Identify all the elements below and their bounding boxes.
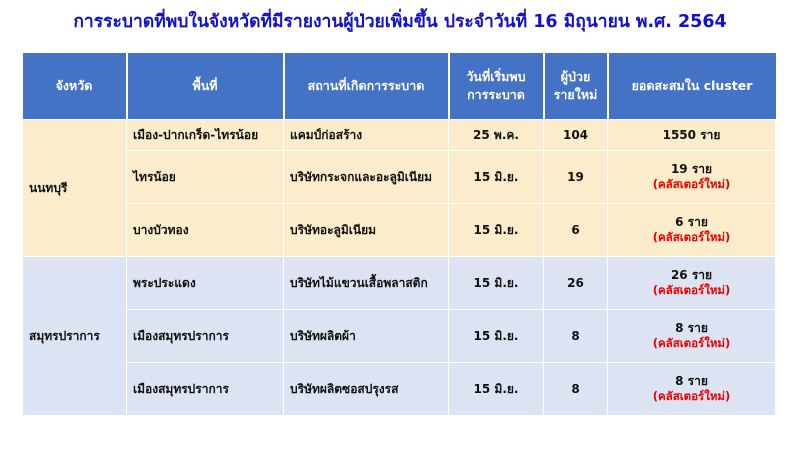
column-header-new-cases-line1: ผู้ป่วย bbox=[561, 69, 591, 84]
cell-cumulative: 8 ราย(คลัสเตอร์ใหม่) bbox=[608, 310, 776, 363]
table-body: นนทบุรีเมือง-ปากเกร็ด-ไทรน้อยแคมป์ก่อสร้… bbox=[23, 120, 776, 416]
column-header-place: สถานที่เกิดการระบาด bbox=[284, 53, 449, 120]
table-header: จังหวัด พื้นที่ สถานที่เกิดการระบาด วันท… bbox=[23, 53, 776, 120]
cell-cumulative: 8 ราย(คลัสเตอร์ใหม่) bbox=[608, 363, 776, 416]
cell-province: นนทบุรี bbox=[23, 120, 127, 257]
table-row: สมุทรปราการพระประแดงบริษัทไม้แขวนเสื้อพล… bbox=[23, 257, 776, 310]
new-cluster-note: (คลัสเตอร์ใหม่) bbox=[614, 230, 769, 246]
outbreak-table-container: จังหวัด พื้นที่ สถานที่เกิดการระบาด วันท… bbox=[22, 53, 775, 416]
table-row: นนทบุรีเมือง-ปากเกร็ด-ไทรน้อยแคมป์ก่อสร้… bbox=[23, 120, 776, 151]
cell-new-cases: 8 bbox=[544, 310, 608, 363]
cell-cumulative: 19 ราย(คลัสเตอร์ใหม่) bbox=[608, 151, 776, 204]
table-row: เมืองสมุทรปราการบริษัทผลิตซอสปรุงรส15 มิ… bbox=[23, 363, 776, 416]
cell-start-date: 15 มิ.ย. bbox=[449, 363, 544, 416]
column-header-new-cases-line2: รายใหม่ bbox=[554, 87, 598, 102]
column-header-area: พื้นที่ bbox=[127, 53, 284, 120]
cell-start-date: 15 มิ.ย. bbox=[449, 151, 544, 204]
slide-page: การระบาดที่พบในจังหวัดที่มีรายงานผู้ป่วย… bbox=[0, 0, 800, 450]
cell-place: แคมป์ก่อสร้าง bbox=[284, 120, 449, 151]
cell-area: เมืองสมุทรปราการ bbox=[127, 310, 284, 363]
cumulative-total: 6 ราย bbox=[614, 214, 769, 230]
cumulative-total: 26 ราย bbox=[614, 267, 769, 283]
page-title: การระบาดที่พบในจังหวัดที่มีรายงานผู้ป่วย… bbox=[0, 12, 800, 33]
new-cluster-note: (คลัสเตอร์ใหม่) bbox=[614, 336, 769, 352]
column-header-cumulative: ยอดสะสมใน cluster bbox=[608, 53, 776, 120]
new-cluster-note: (คลัสเตอร์ใหม่) bbox=[614, 283, 769, 299]
cumulative-total: 8 ราย bbox=[614, 320, 769, 336]
table-header-row: จังหวัด พื้นที่ สถานที่เกิดการระบาด วันท… bbox=[23, 53, 776, 120]
cell-cumulative: 26 ราย(คลัสเตอร์ใหม่) bbox=[608, 257, 776, 310]
table-row: ไทรน้อยบริษัทกระจกและอะลูมิเนียม15 มิ.ย.… bbox=[23, 151, 776, 204]
column-header-province: จังหวัด bbox=[23, 53, 127, 120]
cell-start-date: 15 มิ.ย. bbox=[449, 310, 544, 363]
cell-area: เมือง-ปากเกร็ด-ไทรน้อย bbox=[127, 120, 284, 151]
cell-start-date: 15 มิ.ย. bbox=[449, 257, 544, 310]
cell-area: ไทรน้อย bbox=[127, 151, 284, 204]
cell-new-cases: 104 bbox=[544, 120, 608, 151]
outbreak-table: จังหวัด พื้นที่ สถานที่เกิดการระบาด วันท… bbox=[22, 53, 776, 416]
cell-new-cases: 26 bbox=[544, 257, 608, 310]
table-row: เมืองสมุทรปราการบริษัทผลิตผ้า15 มิ.ย.88 … bbox=[23, 310, 776, 363]
cumulative-total: 8 ราย bbox=[614, 373, 769, 389]
column-header-start-date-line1: วันที่เริ่มพบ bbox=[466, 69, 525, 84]
cumulative-total: 1550 ราย bbox=[614, 127, 769, 143]
cell-new-cases: 8 bbox=[544, 363, 608, 416]
column-header-start-date: วันที่เริ่มพบ การระบาด bbox=[449, 53, 544, 120]
cell-place: บริษัทผลิตซอสปรุงรส bbox=[284, 363, 449, 416]
cell-place: บริษัทกระจกและอะลูมิเนียม bbox=[284, 151, 449, 204]
cell-area: เมืองสมุทรปราการ bbox=[127, 363, 284, 416]
new-cluster-note: (คลัสเตอร์ใหม่) bbox=[614, 389, 769, 405]
cell-cumulative: 6 ราย(คลัสเตอร์ใหม่) bbox=[608, 204, 776, 257]
cell-place: บริษัทผลิตผ้า bbox=[284, 310, 449, 363]
new-cluster-note: (คลัสเตอร์ใหม่) bbox=[614, 177, 769, 193]
cell-place: บริษัทอะลูมิเนียม bbox=[284, 204, 449, 257]
cell-place: บริษัทไม้แขวนเสื้อพลาสติก bbox=[284, 257, 449, 310]
cell-new-cases: 6 bbox=[544, 204, 608, 257]
cell-start-date: 25 พ.ค. bbox=[449, 120, 544, 151]
table-row: บางบัวทองบริษัทอะลูมิเนียม15 มิ.ย.66 ราย… bbox=[23, 204, 776, 257]
cell-cumulative: 1550 ราย bbox=[608, 120, 776, 151]
cell-area: บางบัวทอง bbox=[127, 204, 284, 257]
cell-start-date: 15 มิ.ย. bbox=[449, 204, 544, 257]
column-header-new-cases: ผู้ป่วย รายใหม่ bbox=[544, 53, 608, 120]
cumulative-total: 19 ราย bbox=[614, 161, 769, 177]
cell-area: พระประแดง bbox=[127, 257, 284, 310]
cell-province: สมุทรปราการ bbox=[23, 257, 127, 416]
cell-new-cases: 19 bbox=[544, 151, 608, 204]
column-header-start-date-line2: การระบาด bbox=[467, 87, 525, 102]
